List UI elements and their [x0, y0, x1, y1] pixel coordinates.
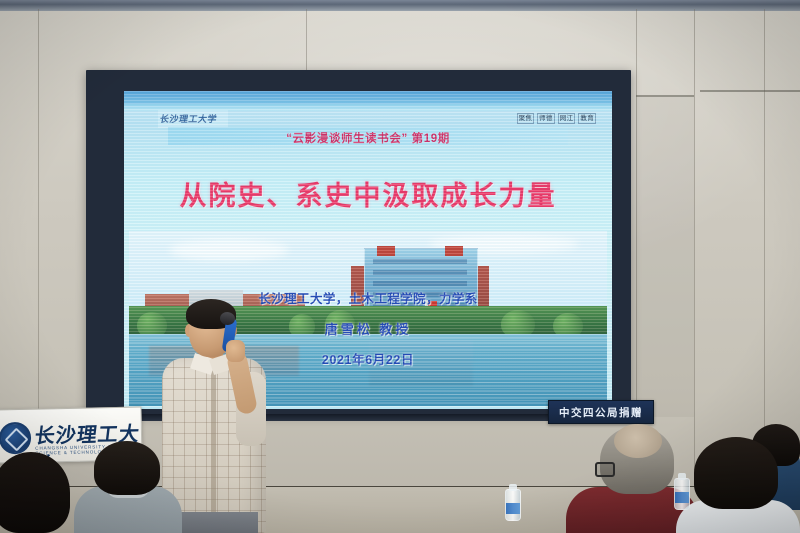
slide-main-title: 从院史、系史中汲取成长力量: [124, 174, 612, 213]
photo-window-band: [373, 281, 467, 286]
photo-roof-accent: [445, 246, 463, 256]
speaker-hand: [226, 340, 245, 362]
photo-window-band: [373, 270, 467, 275]
photo-roof-accent: [377, 246, 395, 256]
slide-corner-tags: 聚焦 师德 网江 教育: [517, 113, 596, 124]
wall-trim-line: [700, 90, 800, 92]
audience-left-dark-head: [94, 441, 160, 495]
slide-university-logo: 长沙理工大学: [159, 112, 225, 126]
university-logo-icon: [0, 422, 31, 455]
lecture-hall-scene: 长沙理工大学 聚焦 师德 网江 教育 “云影漫谈师生读书会” 第19期 从院史、…: [0, 0, 800, 533]
audience-grey-hair-crown: [614, 424, 662, 458]
wall-seam: [306, 9, 307, 71]
audience-front-left-head: [0, 452, 70, 533]
slide-tag: 师德: [537, 113, 555, 124]
wall-panel: [636, 97, 694, 417]
slide-tag: 网江: [558, 113, 576, 124]
speaker-trousers: [170, 512, 258, 533]
glasses-icon: [595, 462, 615, 477]
audience-right-dark-head: [694, 437, 778, 509]
photo-cloud: [169, 239, 289, 261]
slide-top-band: [124, 91, 612, 104]
slide-tag: 聚焦: [517, 113, 535, 124]
donation-plaque-text: 中交四公局捐赠: [559, 405, 643, 420]
slide-subheading: “云影漫谈师生读书会” 第19期: [124, 130, 612, 146]
wall-seam: [764, 9, 765, 487]
ceiling-edge: [0, 0, 800, 11]
speaker-shirt-placket: [211, 368, 216, 528]
slide-tag: 教育: [578, 113, 596, 124]
wall-seam: [694, 9, 695, 487]
water-bottle-right: [674, 478, 690, 510]
photo-window-band: [373, 259, 467, 264]
water-bottle-center: [505, 489, 521, 521]
donation-plaque: 中交四公局捐赠: [548, 400, 654, 424]
